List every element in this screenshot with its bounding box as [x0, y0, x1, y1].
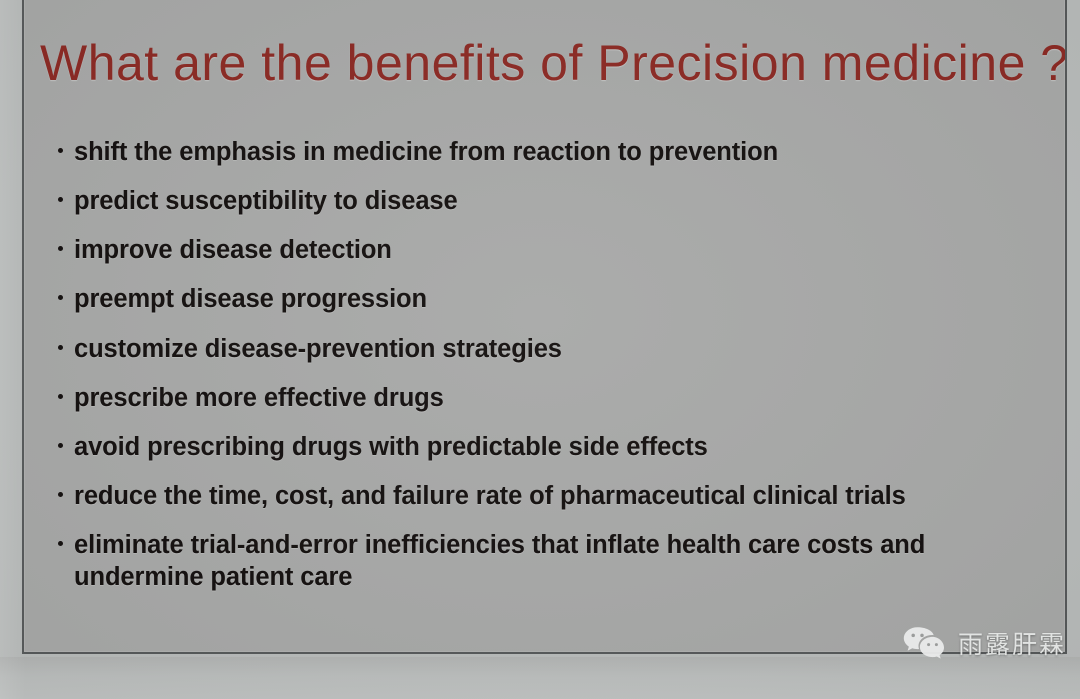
list-item-label: reduce the time, cost, and failure rate …: [74, 482, 906, 510]
list-item: predict susceptibility to disease: [38, 185, 998, 217]
bullet-dot-icon: [58, 148, 63, 153]
list-item-label: avoid prescribing drugs with predictable…: [74, 433, 708, 461]
bullet-dot-icon: [58, 394, 63, 399]
list-item-label: eliminate trial-and-error inefficiencies…: [74, 531, 925, 591]
bullet-dot-icon: [58, 345, 63, 350]
list-item: shift the emphasis in medicine from reac…: [38, 136, 998, 168]
list-item-label: improve disease detection: [74, 236, 392, 264]
list-item-label: shift the emphasis in medicine from reac…: [74, 138, 778, 166]
list-item-label: prescribe more effective drugs: [74, 384, 444, 412]
bullet-dot-icon: [58, 541, 63, 546]
list-item: preempt disease progression: [38, 283, 998, 315]
list-item: eliminate trial-and-error inefficiencies…: [38, 529, 998, 593]
bullet-dot-icon: [58, 492, 63, 497]
slide-title: What are the benefits of Precision medic…: [40, 34, 1065, 92]
list-item: prescribe more effective drugs: [38, 382, 998, 414]
benefits-bullet-list: shift the emphasis in medicine from reac…: [38, 136, 998, 610]
list-item: avoid prescribing drugs with predictable…: [38, 431, 998, 463]
bullet-dot-icon: [58, 443, 63, 448]
bullet-dot-icon: [58, 246, 63, 251]
watermark-label: 雨露肝霖: [958, 625, 1066, 661]
list-item: customize disease-prevention strategies: [38, 333, 998, 365]
list-item-label: predict susceptibility to disease: [74, 187, 458, 215]
slide-bottom-band: [0, 657, 1080, 699]
list-item: reduce the time, cost, and failure rate …: [38, 480, 998, 512]
presentation-slide: What are the benefits of Precision medic…: [22, 0, 1067, 654]
list-item-label: customize disease-prevention strategies: [74, 335, 562, 363]
wechat-logo-icon: [902, 626, 948, 660]
bullet-dot-icon: [58, 197, 63, 202]
list-item: improve disease detection: [38, 234, 998, 266]
slide-content-area: What are the benefits of Precision medic…: [24, 0, 1065, 652]
list-item-label: preempt disease progression: [74, 285, 427, 313]
bullet-dot-icon: [58, 295, 63, 300]
watermark: 雨露肝霖: [902, 625, 1066, 661]
slide-photo-screen: What are the benefits of Precision medic…: [0, 0, 1080, 699]
